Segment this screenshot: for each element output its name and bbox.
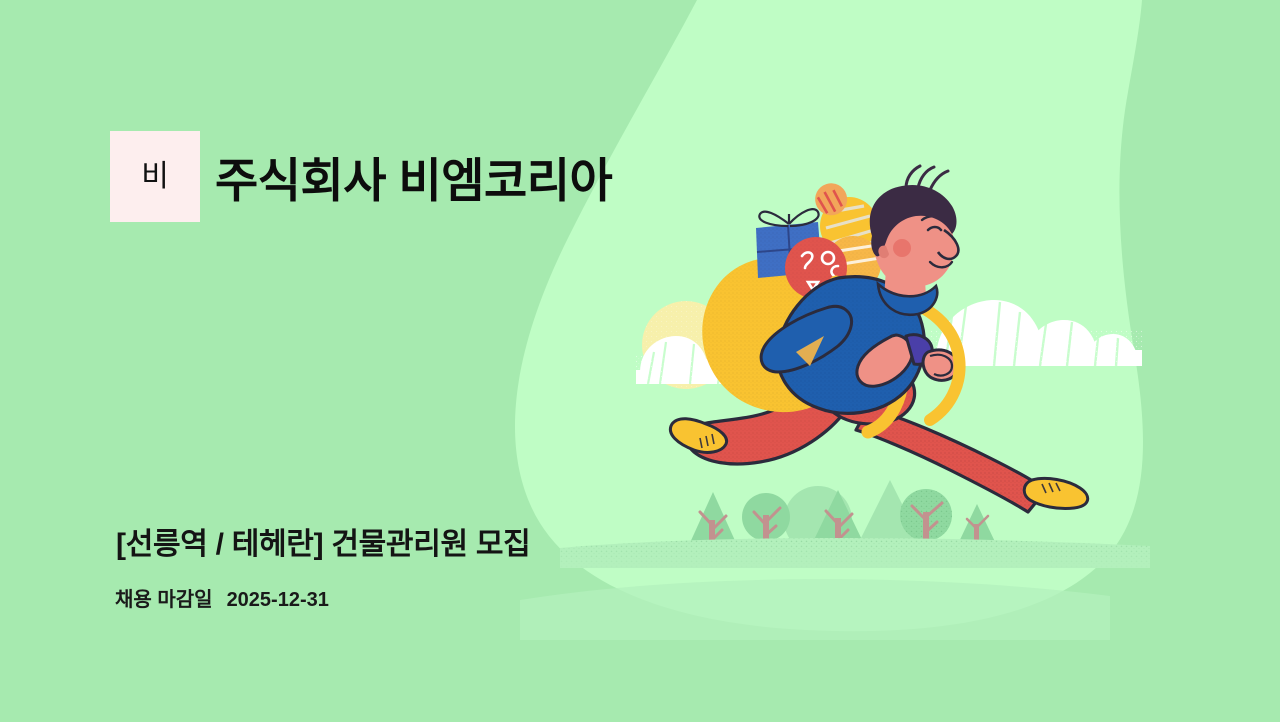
job-posting-title: [선릉역 / 테헤란] 건물관리원 모집 bbox=[116, 519, 530, 563]
deadline-date: 2025-12-31 bbox=[227, 589, 329, 612]
cloud-left bbox=[636, 336, 794, 384]
company-logo-box: 비 bbox=[110, 131, 200, 222]
deadline-label: 채용 마감일 bbox=[115, 583, 213, 612]
deadline-row: 채용 마감일 2025-12-31 bbox=[115, 583, 329, 612]
trees-back bbox=[784, 480, 922, 554]
runner-figure bbox=[670, 166, 1087, 512]
job-posting-card: 비 주식회사 비엠코리아 [선릉역 / 테헤란] 건물관리원 모집 채용 마감일… bbox=[0, 0, 1280, 722]
cloud-right bbox=[930, 300, 1142, 366]
company-logo-initial: 비 bbox=[141, 162, 169, 192]
background-illustration bbox=[0, 0, 1280, 722]
trees-front bbox=[689, 489, 997, 548]
company-name: 주식회사 비엠코리아 bbox=[215, 131, 612, 222]
